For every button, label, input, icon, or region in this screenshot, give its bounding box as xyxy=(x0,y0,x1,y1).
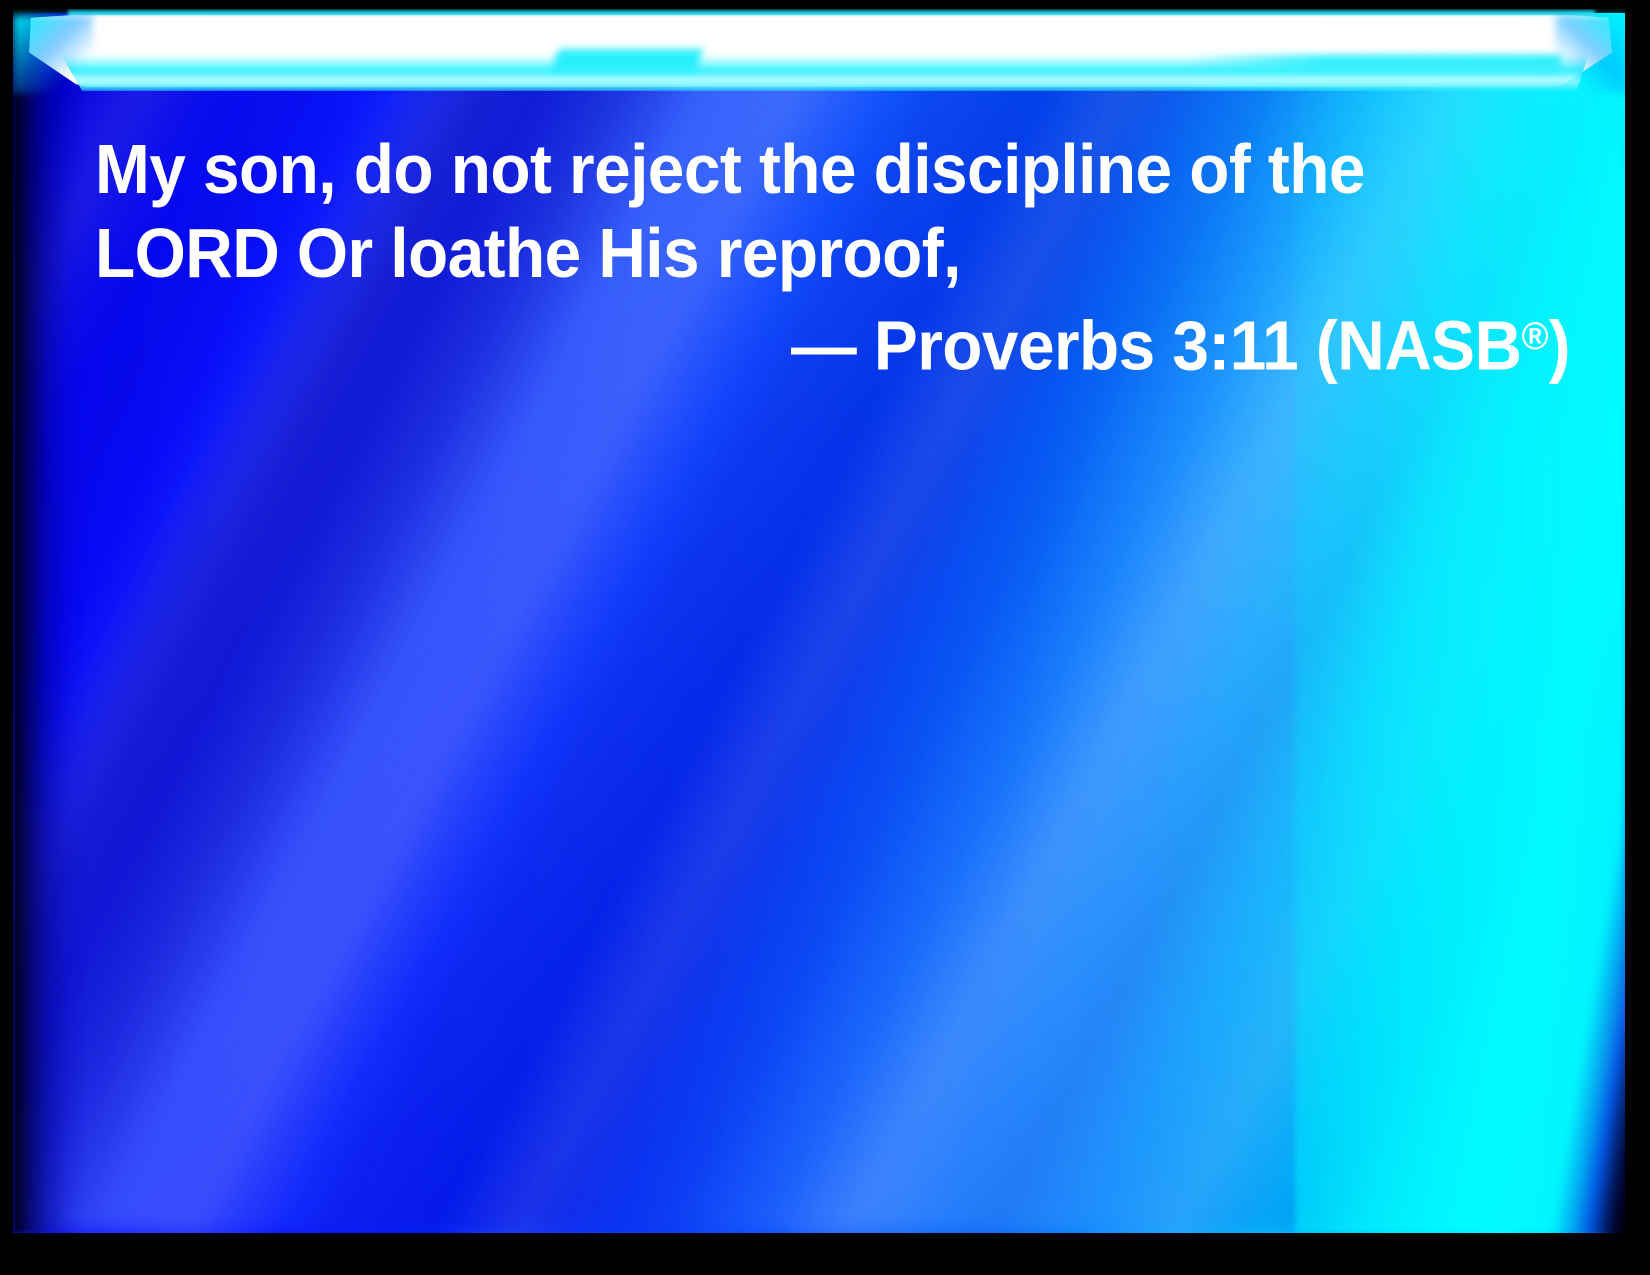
verse-attribution: — Proverbs 3:11 (NASB®) xyxy=(184,295,1585,387)
verse-slide: My son, do not reject the discipline of … xyxy=(0,0,1650,1275)
attribution-closing-paren: ) xyxy=(1549,306,1570,384)
registered-trademark-icon: ® xyxy=(1521,315,1548,358)
attribution-reference-text: — Proverbs 3:11 (NASB xyxy=(791,306,1521,384)
slide-artwork: My son, do not reject the discipline of … xyxy=(13,9,1625,1233)
verse-line-2: LORD Or loathe His reproof, xyxy=(95,211,1496,295)
background-left-vignette xyxy=(13,9,83,1233)
verse-line-1: My son, do not reject the discipline of … xyxy=(95,127,1496,211)
verse-text-block: My son, do not reject the discipline of … xyxy=(95,127,1585,387)
